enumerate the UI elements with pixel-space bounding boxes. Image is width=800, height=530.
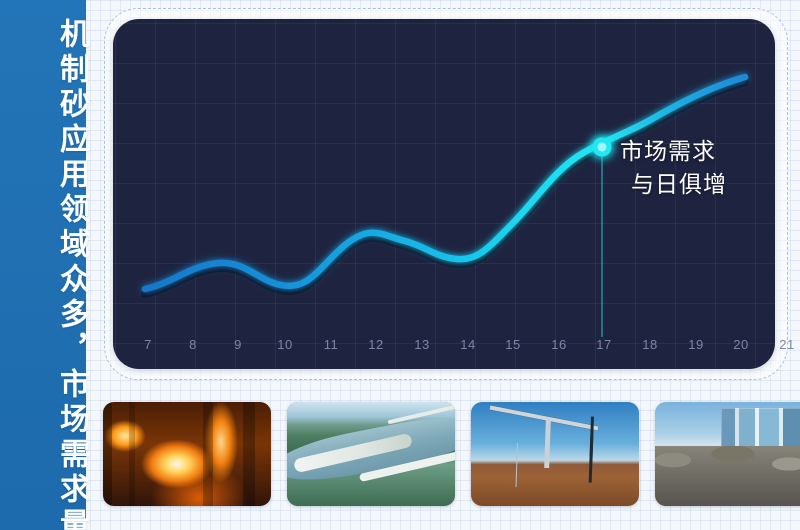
sidebar-banner: 机制砂应用领域众多，市场需求量较大 — [0, 0, 86, 530]
annotation-line-1: 市场需求 — [620, 136, 727, 169]
poster-canvas: 机制砂应用领域众多，市场需求量较大 — [0, 0, 800, 530]
sidebar-vertical-title: 机制砂应用领域众多，市场需求量较大 — [0, 18, 86, 518]
thumbnail-demolition-rubble[interactable] — [655, 402, 800, 506]
chart-annotation: 市场需求 与日俱增 — [620, 136, 727, 202]
thumbnail-river-dam[interactable] — [287, 402, 455, 506]
annotation-line-2: 与日俱增 — [620, 169, 727, 202]
highlight-marker-core — [598, 143, 607, 152]
steel-furnace-image — [103, 402, 271, 506]
demolition-rubble-image — [655, 402, 800, 506]
thumbnail-steel-furnace[interactable] — [103, 402, 271, 506]
river-dam-image — [287, 402, 455, 506]
thumbnail-row — [103, 402, 791, 506]
construction-crane-image — [471, 402, 639, 506]
thumbnail-construction-crane[interactable] — [471, 402, 639, 506]
